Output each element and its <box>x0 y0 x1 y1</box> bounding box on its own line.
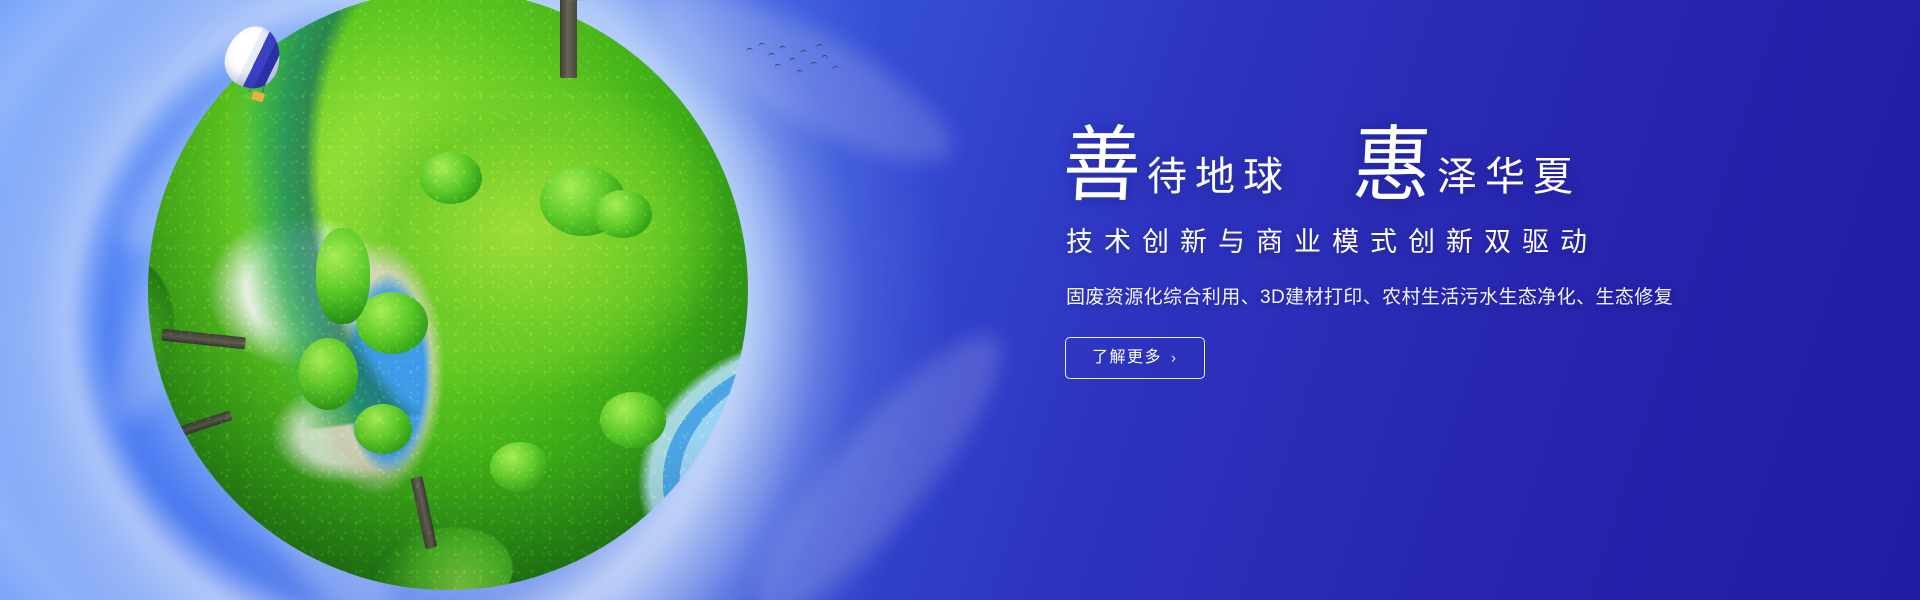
bush <box>354 404 412 454</box>
headline-phrase-2: 惠 泽华夏 <box>1353 128 1581 204</box>
bush <box>420 152 482 204</box>
cloud-streak <box>729 309 1031 600</box>
bush <box>490 442 550 492</box>
hero-banner: 善 待地球 惠 泽华夏 技术创新与商业模式创新双驱动 固废资源化综合利用、3D建… <box>0 0 1920 600</box>
cloud-streak <box>134 231 425 600</box>
limb-shading <box>148 0 748 590</box>
cloud-streak <box>638 0 972 192</box>
hero-description: 固废资源化综合利用、3D建材打印、农村生活污水生态净化、生态修复 <box>1066 282 1863 309</box>
headline-phrase-1: 善 待地球 <box>1063 128 1291 204</box>
headline-tail-1: 待地球 <box>1147 157 1291 197</box>
headline-lead-glyph-1: 善 <box>1061 126 1149 207</box>
rim-tree <box>322 458 539 590</box>
hot-air-balloon-icon <box>226 26 280 112</box>
canopy-tree <box>448 0 698 52</box>
cloud-streak <box>91 0 490 288</box>
page-title: 善 待地球 惠 泽华夏 <box>1063 128 1863 204</box>
little-planet-image <box>148 0 748 590</box>
bush <box>600 392 666 448</box>
bush <box>316 228 370 324</box>
bird-flock <box>744 42 864 82</box>
cloud-streak <box>83 65 337 441</box>
cloud-streak <box>250 204 330 506</box>
bush <box>356 292 428 354</box>
hero-subtitle: 技术创新与商业模式创新双驱动 <box>1066 220 1863 259</box>
sky-glow-outer <box>0 0 1000 600</box>
learn-more-label: 了解更多 <box>1092 350 1162 366</box>
sky-glow-inner <box>0 0 860 600</box>
rim-tree <box>148 333 255 541</box>
atmosphere-glow <box>122 0 774 600</box>
chevron-right-icon: › <box>1171 350 1178 365</box>
forest-rim <box>148 0 472 449</box>
bush <box>298 338 358 410</box>
hero-content: 善 待地球 惠 泽华夏 技术创新与商业模式创新双驱动 固废资源化综合利用、3D建… <box>1063 128 1863 379</box>
bush <box>594 190 652 238</box>
rim-tree <box>148 223 256 441</box>
learn-more-button[interactable]: 了解更多 › <box>1065 337 1205 379</box>
planet-sphere <box>148 0 748 590</box>
headline-tail-2: 泽华夏 <box>1437 157 1581 197</box>
headline-lead-glyph-2: 惠 <box>1351 126 1439 207</box>
bush <box>540 166 626 236</box>
